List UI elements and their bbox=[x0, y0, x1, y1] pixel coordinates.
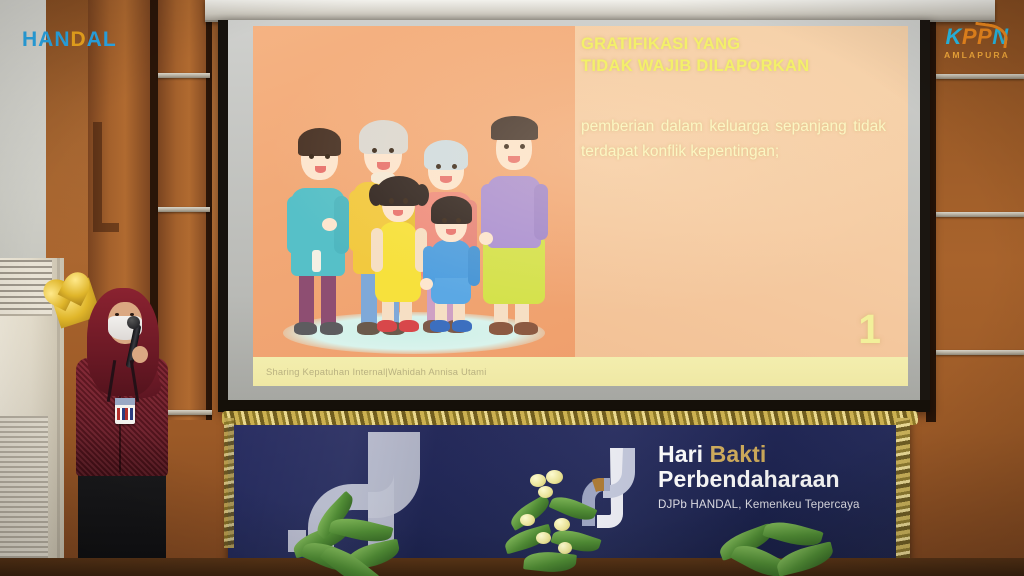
wall-trim-4 bbox=[936, 212, 1024, 217]
gold-tinsel-garland-right bbox=[896, 418, 910, 566]
slide-title: GRATIFIKASI YANG TIDAK WAJIB DILAPORKAN bbox=[581, 34, 891, 78]
handal-logo-part-3: AL bbox=[87, 28, 117, 51]
screen-edge-left bbox=[218, 20, 228, 412]
slide-footer-text: Sharing Kepatuhan Internal|Wahidah Annis… bbox=[266, 366, 486, 377]
banner-text-block: Hari Bakti Perbendaharaan DJPb HANDAL, K… bbox=[658, 442, 860, 511]
banner-title-line-2: Perbendaharaan bbox=[658, 467, 860, 493]
slide-title-line-1: GRATIFIKASI YANG bbox=[581, 34, 891, 56]
kppn-logo-subtitle: AMLAPURA bbox=[944, 50, 1010, 60]
screen-edge-right bbox=[920, 20, 930, 412]
handal-logo-part-2: D bbox=[71, 28, 87, 51]
handal-logo: HANDAL bbox=[22, 28, 117, 52]
microphone-head bbox=[127, 316, 140, 329]
wall-trim-3 bbox=[936, 74, 1024, 79]
id-badge-stripes bbox=[117, 408, 133, 420]
banner-title-line-1: Hari Bakti bbox=[658, 442, 860, 467]
female-presenter bbox=[70, 280, 180, 576]
wall-trim-1 bbox=[158, 73, 210, 78]
decorative-plant-left bbox=[290, 500, 410, 576]
slide-page-number: 1 bbox=[858, 306, 881, 353]
wall-niche bbox=[93, 122, 119, 232]
ac-bottom-grill bbox=[0, 416, 48, 576]
slide-body-text: pemberian dalam keluarga sepanjang tidak… bbox=[581, 114, 886, 164]
projector-screen-housing bbox=[205, 0, 995, 22]
banner-title-hari: Hari bbox=[658, 441, 710, 467]
kppn-logo: KPPN AMLAPURA bbox=[944, 26, 1010, 60]
air-conditioner-unit bbox=[0, 258, 60, 576]
id-badge bbox=[115, 398, 135, 424]
slide-footer-bar: Sharing Kepatuhan Internal|Wahidah Annis… bbox=[253, 357, 908, 386]
gold-tinsel-garland-left bbox=[224, 418, 234, 548]
banner-subtitle: DJPb HANDAL, Kemenkeu Tepercaya bbox=[658, 498, 860, 511]
decorative-plant-right bbox=[718, 514, 838, 576]
kppn-logo-wordmark: KPPN bbox=[944, 26, 1010, 48]
kppn-logo-k: K bbox=[945, 24, 961, 49]
screenshot-stage: GRATIFIKASI YANG TIDAK WAJIB DILAPORKAN … bbox=[0, 0, 1024, 576]
cartoon-family-illustration bbox=[265, 100, 565, 358]
banner-title-bakti: Bakti bbox=[710, 441, 767, 467]
decorative-plant-center bbox=[498, 470, 608, 576]
presentation-slide: GRATIFIKASI YANG TIDAK WAJIB DILAPORKAN … bbox=[253, 26, 908, 386]
wall-trim-5 bbox=[936, 350, 1024, 355]
wall-trim-2 bbox=[158, 207, 210, 212]
handal-logo-part-1: HAN bbox=[22, 28, 71, 51]
gold-tinsel-garland-top bbox=[222, 411, 918, 425]
slide-title-line-2: TIDAK WAJIB DILAPORKAN bbox=[581, 56, 891, 78]
presenter-hand bbox=[132, 346, 148, 363]
id-badge-header bbox=[115, 398, 135, 405]
